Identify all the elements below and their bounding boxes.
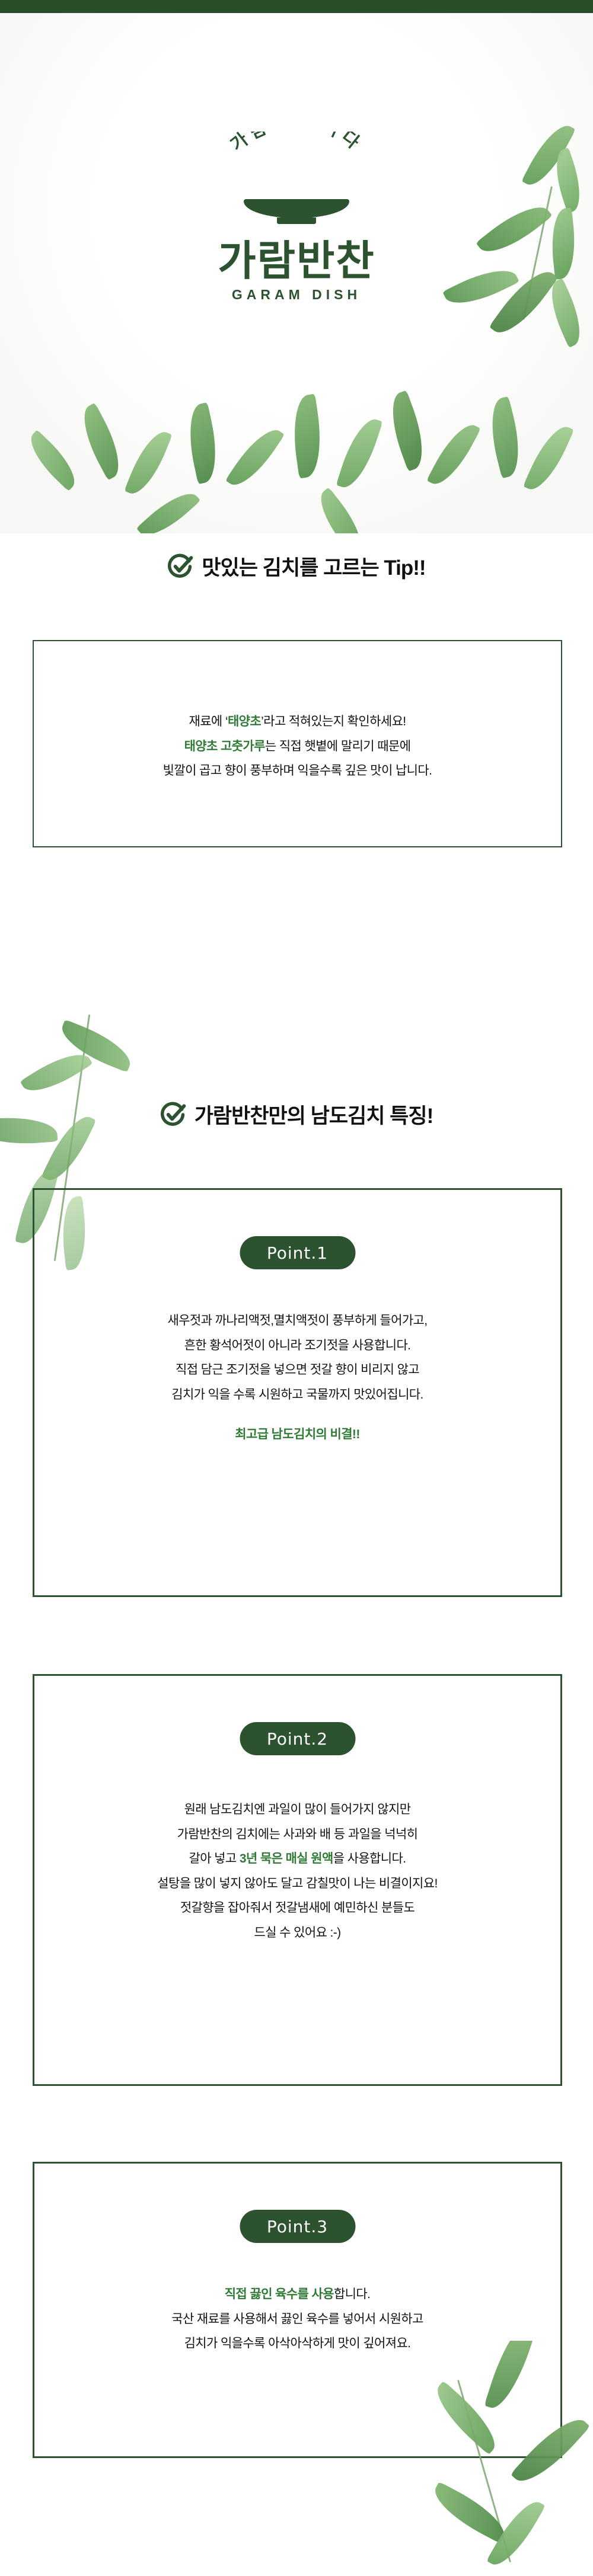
point-line: 직접 끓인 육수를 사용합니다.: [34, 2282, 560, 2307]
point-line: 젓갈향을 잡아줘서 젓갈냄새에 예민하신 분들도: [34, 1896, 560, 1921]
text-run: 원래 남도김치엔 과일이 많이 들어가지 않지만: [184, 1803, 411, 1816]
point-line: 원래 남도김치엔 과일이 많이 들어가지 않지만: [34, 1797, 560, 1822]
point-box-2: Point.2 원래 남도김치엔 과일이 많이 들어가지 않지만 가람반찬의 김…: [33, 1674, 562, 2086]
text-run: 젓갈향을 잡아줘서 젓갈냄새에 예민하신 분들도: [180, 1901, 415, 1915]
text-run: 태양초 고춧가루: [184, 740, 265, 753]
text-run: 국산 재료를 사용해서 끓인 육수를 넣어서 시원하고: [171, 2312, 423, 2326]
text-run: 을 사용합니다.: [333, 1852, 406, 1865]
feature-section-heading: 가람반찬만의 남도김치 특징!: [0, 1099, 593, 1129]
point-line: 김치가 익을 수록 시원하고 국물까지 맛있어집니다.: [34, 1383, 560, 1407]
text-run: 3년 묵은 매실 원액: [240, 1852, 333, 1865]
point-text-1: 새우젓과 까나리액젓,멸치액젓이 풍부하게 들어가고, 흔한 황석어젓이 아니라…: [34, 1308, 560, 1442]
footer-leaves: [356, 2341, 593, 2576]
point-line: 드실 수 있어요 :-): [34, 1921, 560, 1945]
arc-tagline-text: 가람을 더하다: [199, 132, 394, 197]
point-line: 새우젓과 까나리액젓,멸치액젓이 풍부하게 들어가고,: [34, 1308, 560, 1333]
text-run: ’라고 적혀있는지 확인하세요!: [261, 715, 406, 728]
point-closing-1: 최고급 남도김치의 비결!!: [34, 1425, 560, 1442]
point-line: 가람반찬의 김치에는 사과와 배 등 과일을 넉넉히: [34, 1822, 560, 1847]
point-line: 직접 담근 조기젓을 넣으면 젓갈 향이 비리지 않고: [34, 1358, 560, 1383]
brand-name-ko: 가람반찬: [0, 239, 593, 283]
text-run: 흔한 황석어젓이 아니라 조기젓을 사용합니다.: [184, 1339, 411, 1352]
tip-box-text: 재료에 ‘태양초’라고 적혀있는지 확인하세요! 태양초 고춧가루는 직접 햇볕…: [34, 709, 561, 783]
check-circle-icon: [160, 1102, 186, 1128]
text-run: 설탕을 많이 넣지 않아도 달고 감칠맛이 나는 비결이지요!: [157, 1877, 437, 1890]
point-badge-3: Point.3: [240, 2210, 355, 2243]
top-accent-bar: [0, 0, 593, 13]
tip-line: 빛깔이 곱고 향이 풍부하며 익을수록 깊은 맛이 납니다.: [34, 759, 561, 783]
text-run: 김치가 익을 수록 시원하고 국물까지 맛있어집니다.: [171, 1388, 423, 1401]
point-badge-2: Point.2: [240, 1722, 355, 1755]
text-run: 태양초: [228, 715, 261, 728]
text-run: 새우젓과 까나리액젓,멸치액젓이 풍부하게 들어가고,: [167, 1314, 427, 1327]
point-line: 흔한 황석어젓이 아니라 조기젓을 사용합니다.: [34, 1333, 560, 1358]
text-run: 직접 담근 조기젓을 넣으면 젓갈 향이 비리지 않고: [176, 1363, 419, 1377]
text-run: 빛깔이 곱고 향이 풍부하며 익을수록 깊은 맛이 납니다.: [163, 764, 432, 777]
text-run: 는 직접 햇볕에 말리기 때문에: [265, 740, 411, 753]
brand-logo: 가람을 더하다 가람반찬 GARAM DISH: [0, 132, 593, 303]
tip-box: 재료에 ‘태양초’라고 적혀있는지 확인하세요! 태양초 고춧가루는 직접 햇볕…: [33, 640, 562, 847]
text-run: 직접 끓인 육수를 사용: [225, 2287, 334, 2301]
text-run: 드실 수 있어요 :-): [254, 1926, 340, 1940]
point-line: 갈아 넣고 3년 묵은 매실 원액을 사용합니다.: [34, 1847, 560, 1871]
text-run: 합니다.: [334, 2287, 370, 2301]
point-box-1: Point.1 새우젓과 까나리액젓,멸치액젓이 풍부하게 들어가고, 흔한 황…: [33, 1188, 562, 1597]
hero-banner: 가람을 더하다 가람반찬 GARAM DISH: [0, 13, 593, 533]
text-run: 재료에 ‘: [189, 715, 227, 728]
text-run: 가람반찬의 김치에는 사과와 배 등 과일을 넉넉히: [177, 1828, 418, 1841]
point-line: 설탕을 많이 넣지 않아도 달고 감칠맛이 나는 비결이지요!: [34, 1871, 560, 1896]
bowl-icon: [244, 199, 349, 226]
svg-text:가람을 더하다: 가람을 더하다: [227, 132, 366, 155]
check-circle-icon: [167, 553, 193, 580]
feature-heading-text: 가람반찬만의 남도김치 특징!: [195, 1099, 433, 1129]
arc-tagline-textpath: 가람을 더하다: [227, 132, 366, 155]
point-badge-1: Point.1: [240, 1236, 355, 1269]
tip-section-heading: 맛있는 김치를 고르는 Tip!!: [0, 551, 593, 581]
point-line: 국산 재료를 사용해서 끓인 육수를 넣어서 시원하고: [34, 2307, 560, 2332]
tip-line: 태양초 고춧가루는 직접 햇볕에 말리기 때문에: [34, 734, 561, 759]
brand-name-en: GARAM DISH: [0, 287, 593, 303]
tip-line: 재료에 ‘태양초’라고 적혀있는지 확인하세요!: [34, 709, 561, 734]
text-run: 갈아 넣고: [189, 1852, 240, 1865]
point-text-2: 원래 남도김치엔 과일이 많이 들어가지 않지만 가람반찬의 김치에는 사과와 …: [34, 1797, 560, 1945]
tip-heading-text: 맛있는 김치를 고르는 Tip!!: [202, 551, 425, 581]
